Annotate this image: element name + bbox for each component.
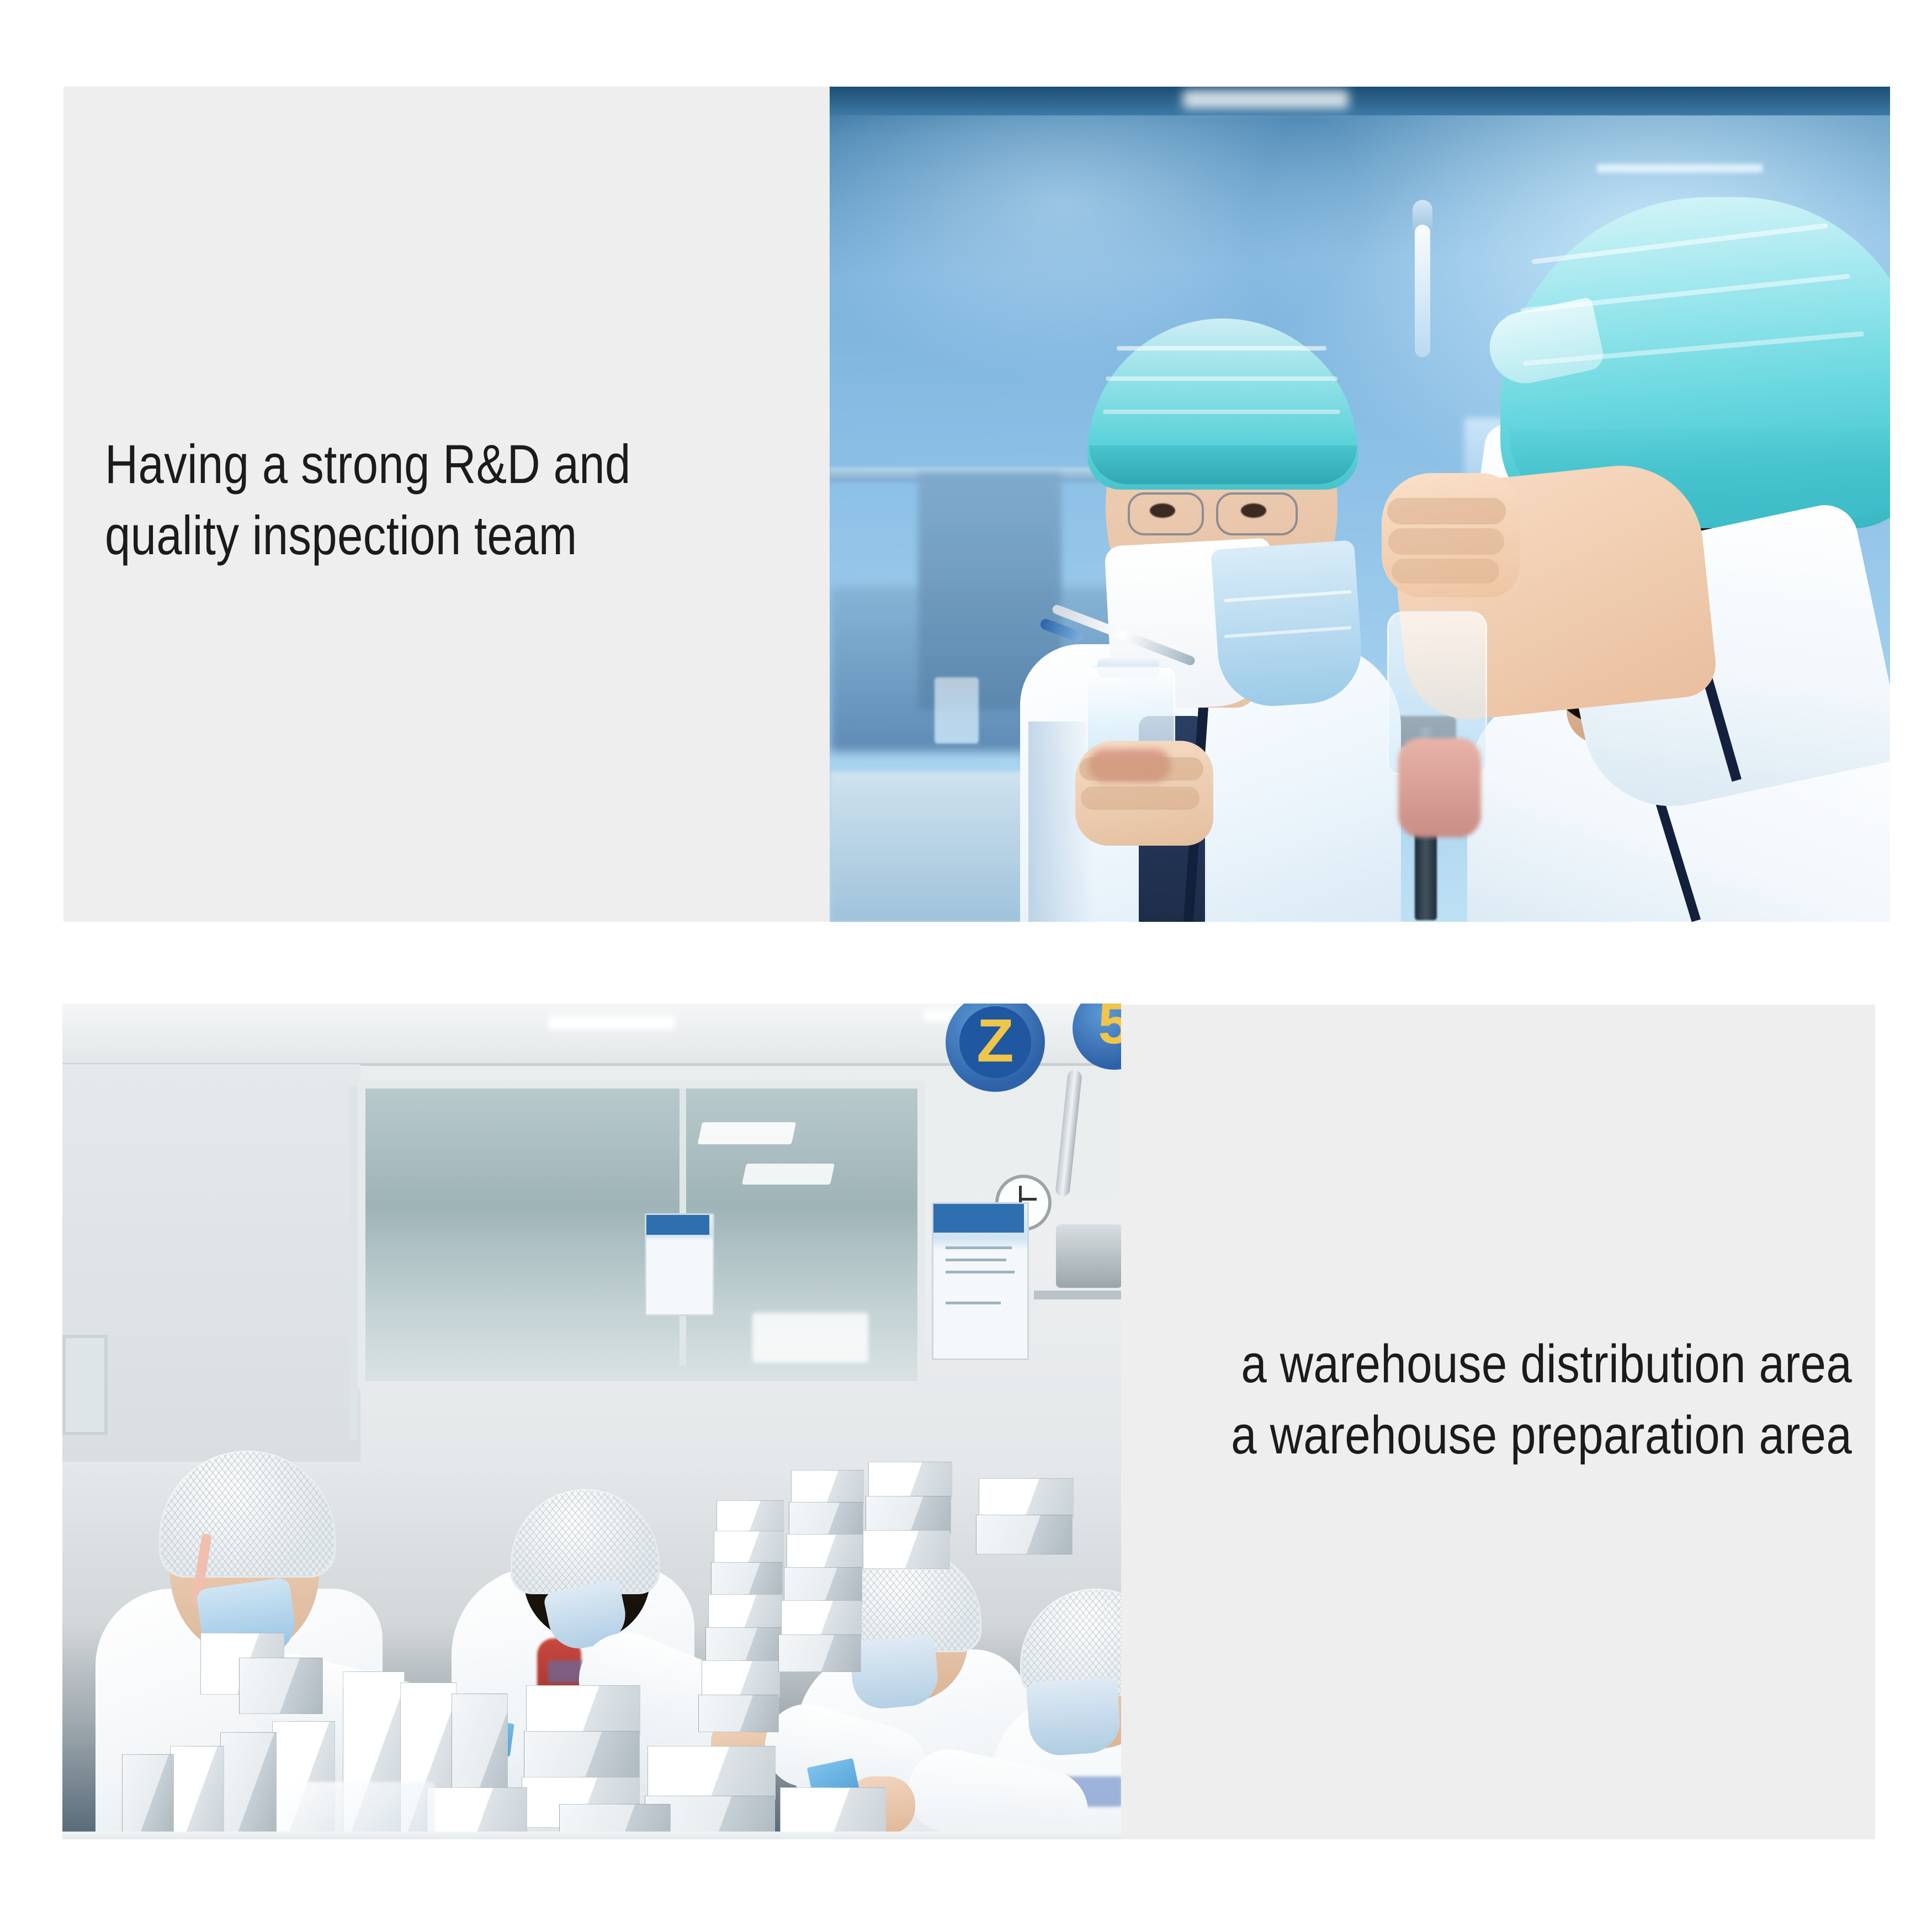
carton <box>979 1478 1074 1518</box>
worker-a-finger-2 <box>1081 787 1199 810</box>
worker-a-face-mask-blue <box>1211 540 1365 709</box>
lab-ceiling-strip <box>830 87 1890 115</box>
held-vial-contents <box>1398 738 1481 837</box>
top-caption-text: Having a strong R&D and quality inspecti… <box>105 429 698 571</box>
window-reflected-light-1 <box>698 1122 797 1144</box>
carton <box>711 1562 783 1597</box>
carton-tall <box>170 1746 224 1833</box>
shelf-rail <box>1034 1291 1121 1299</box>
ceiling-light-1 <box>548 1016 675 1030</box>
worker-a-cap-fold-3 <box>1103 410 1340 414</box>
carton <box>239 1658 323 1714</box>
info-poster-line-4 <box>946 1302 1001 1304</box>
glass-ampoule <box>1415 225 1430 357</box>
carton <box>705 1627 782 1664</box>
warehouse-packaging-photo: Z 5 <box>62 1004 1121 1839</box>
top-text-panel: Having a strong R&D and quality inspecti… <box>63 87 830 922</box>
steel-pot-1 <box>1056 1224 1121 1288</box>
wall-duct <box>349 1086 357 1440</box>
carton <box>778 1634 861 1672</box>
carton <box>976 1515 1073 1554</box>
bottom-section: Z 5 <box>62 1004 1875 1839</box>
info-poster-right-header <box>933 1204 1024 1233</box>
small-window-left <box>62 1335 108 1435</box>
info-poster-line-2 <box>946 1259 1006 1261</box>
bottom-text-panel: a warehouse distribution area a warehous… <box>1121 1005 1875 1839</box>
carton <box>781 1600 862 1638</box>
carton <box>866 1496 951 1533</box>
carton <box>647 1746 776 1800</box>
window-interior-cartons <box>752 1313 868 1362</box>
carton <box>863 1530 950 1569</box>
worker-a-cap-band <box>1089 445 1357 484</box>
carton <box>708 1594 782 1631</box>
plastic-wrap-sheet-2 <box>280 1782 435 1839</box>
worker-b-finger-2 <box>1388 528 1504 555</box>
lab-beaker <box>935 677 979 744</box>
worker-a-finger-1 <box>1079 757 1203 781</box>
carton <box>791 1470 864 1505</box>
carton <box>787 1534 863 1570</box>
ceiling-sign-z-label: Z <box>968 1009 1023 1075</box>
lab-shelf-right-top <box>1597 164 1763 173</box>
carton-tall <box>220 1732 277 1833</box>
lab-ceiling-light <box>1183 90 1349 109</box>
worker-a-glasses-right-lens <box>1216 492 1298 535</box>
carton <box>716 1500 784 1535</box>
bottom-caption-text: a warehouse distribution area a warehous… <box>1231 1328 1852 1471</box>
info-poster-line-3 <box>946 1271 1015 1273</box>
lab-rd-quality-inspection-photo <box>830 87 1890 922</box>
packer-4-face-mask <box>1026 1676 1121 1757</box>
carton <box>784 1567 862 1604</box>
carton <box>698 1695 779 1732</box>
worker-b-finger-3 <box>1392 559 1499 583</box>
worker-b-finger-1 <box>1387 498 1506 524</box>
carton-tall <box>122 1754 174 1833</box>
clock-minute-hand <box>1019 1198 1037 1201</box>
carton <box>714 1531 784 1566</box>
window-reflected-light-2 <box>742 1164 835 1185</box>
worker-a-cap-fold-2 <box>1106 376 1337 381</box>
carton <box>524 1731 640 1781</box>
worker-a-glasses-left-lens <box>1128 492 1204 535</box>
stainless-steel-table <box>62 1832 1121 1839</box>
worker-a-cap-fold-1 <box>1117 346 1326 351</box>
ceiling-sign-5-label: 5 <box>1082 1004 1121 1063</box>
info-poster-line-1 <box>946 1246 1012 1249</box>
carton <box>702 1660 780 1698</box>
carton <box>526 1685 640 1735</box>
carton <box>868 1462 952 1499</box>
info-poster-center-header <box>646 1215 709 1235</box>
top-section: Having a strong R&D and quality inspecti… <box>63 87 1890 922</box>
carton <box>789 1502 863 1537</box>
